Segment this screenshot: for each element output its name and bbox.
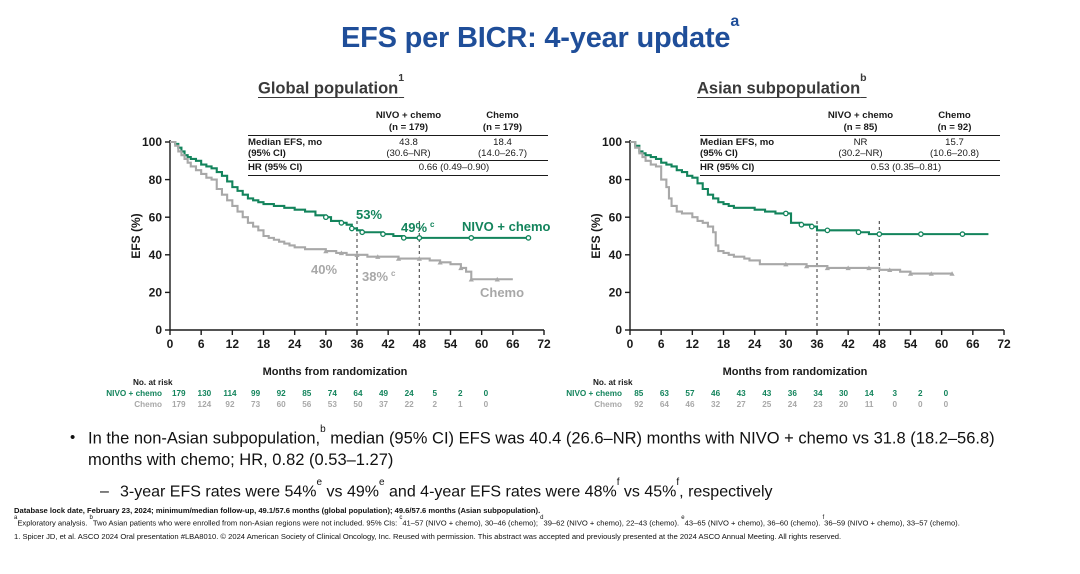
- risk-table-title: No. at risk: [133, 378, 499, 389]
- risk-cell: 60: [268, 400, 294, 411]
- sub-part2: vs 49%: [322, 484, 379, 501]
- stats-col-header-nivo: NIVO + chemo: [812, 110, 909, 122]
- y-axis-tick-label: 0: [615, 323, 622, 337]
- table-row: Chemo92644632272524232011000: [560, 400, 959, 411]
- chart-annotation: 40%: [311, 262, 337, 277]
- sub-bullet-marker-icon: –: [100, 481, 120, 502]
- risk-cell: 30: [831, 389, 857, 400]
- x-axis-tick-label: 24: [288, 337, 302, 351]
- table-row: NIVO + chemo17913011499928574644924520: [100, 389, 499, 400]
- risk-cell: 2: [908, 389, 934, 400]
- risk-cell: 53: [320, 400, 346, 411]
- x-axis-tick-label: 30: [319, 337, 333, 351]
- risk-cell: 37: [371, 400, 397, 411]
- footnote-sup-c: c: [399, 515, 402, 521]
- km-curve-nivo: [630, 142, 988, 234]
- risk-cell: 43: [754, 389, 780, 400]
- risk-cell: 64: [345, 389, 371, 400]
- risk-cell: 73: [243, 400, 269, 411]
- x-axis-tick-label: 72: [997, 337, 1011, 351]
- x-axis-tick-label: 60: [475, 337, 489, 351]
- x-axis-tick-label: 72: [537, 337, 551, 351]
- y-axis-tick-label: 60: [609, 210, 623, 224]
- chart-annotation: Chemo: [480, 285, 524, 300]
- risk-cell: 124: [192, 400, 218, 411]
- censor-mark: [417, 236, 421, 240]
- x-axis-title-asian: Months from randomization: [645, 366, 945, 378]
- risk-cell: 50: [345, 400, 371, 411]
- chart-annotation: 38%: [362, 269, 388, 284]
- risk-cell: 36: [780, 389, 806, 400]
- bullet-main-sup-b: b: [320, 424, 326, 435]
- footnote-definitions: aExploratory analysis. bTwo Asian patien…: [14, 517, 1070, 529]
- risk-table-asian: No. at risk NIVO + chemo8563574643433634…: [560, 378, 959, 411]
- body-bullets: • In the non-Asian subpopulation,b media…: [70, 428, 1030, 503]
- km-plot-global: 020406080100EFS (%)061218243036424854606…: [128, 134, 560, 366]
- risk-cell: 43: [728, 389, 754, 400]
- sub-sup-e2: e: [379, 477, 385, 488]
- risk-cell: 5: [422, 389, 448, 400]
- panel-heading-asian-text: Asian subpopulation: [697, 80, 860, 98]
- censor-mark: [825, 228, 829, 232]
- censor-mark: [784, 211, 788, 215]
- km-curve-chemo: [630, 142, 952, 274]
- bullet-marker-icon: •: [70, 428, 88, 448]
- footnote-a-text: Exploratory analysis.: [17, 518, 89, 527]
- km-chart-asian: 020406080100EFS (%)061218243036424854606…: [588, 134, 1020, 366]
- x-axis-tick-label: 48: [413, 337, 427, 351]
- risk-cell: 49: [371, 389, 397, 400]
- risk-cell: 0: [933, 400, 959, 411]
- risk-cell: 25: [754, 400, 780, 411]
- risk-table-grid: NIVO + chemo17913011499928574644924520Ch…: [100, 389, 499, 411]
- bullet-main-part1: In the non-Asian subpopulation,: [88, 430, 320, 448]
- censor-mark: [526, 236, 530, 240]
- risk-cell: 85: [294, 389, 320, 400]
- risk-cell: 0: [473, 389, 499, 400]
- km-curve-chemo: [170, 142, 513, 279]
- censor-mark: [324, 215, 328, 219]
- x-axis-tick-label: 6: [198, 337, 205, 351]
- censor-mark: [360, 230, 364, 234]
- sub-part1: 3-year EFS rates were 54%: [120, 484, 317, 501]
- censor-mark: [381, 232, 385, 236]
- x-axis-tick-label: 12: [226, 337, 240, 351]
- footnote-sup-b: b: [90, 515, 93, 521]
- chart-annotation-superscript: c: [391, 269, 396, 278]
- risk-cell: 56: [294, 400, 320, 411]
- y-axis-tick-label: 80: [149, 173, 163, 187]
- y-axis-tick-label: 40: [149, 248, 163, 262]
- chart-annotation: NIVO + chemo: [462, 219, 551, 234]
- x-axis-tick-label: 66: [966, 337, 980, 351]
- footnote-b-text: Two Asian patients who were enrolled fro…: [93, 518, 399, 527]
- y-axis-tick-label: 0: [155, 323, 162, 337]
- risk-cell: 0: [882, 400, 908, 411]
- footnotes: Database lock date, February 23, 2024; m…: [14, 506, 1070, 543]
- risk-row-label: Chemo: [100, 400, 166, 411]
- risk-row-label: NIVO + chemo: [560, 389, 626, 400]
- y-axis-tick-label: 100: [602, 135, 622, 149]
- risk-cell: 85: [626, 389, 652, 400]
- sub-sup-e1: e: [317, 477, 323, 488]
- y-axis-title: EFS (%): [589, 213, 603, 258]
- risk-cell: 14: [856, 389, 882, 400]
- risk-cell: 92: [268, 389, 294, 400]
- x-axis-tick-label: 54: [444, 337, 458, 351]
- x-axis-title-global: Months from randomization: [185, 366, 485, 378]
- censor-mark: [402, 236, 406, 240]
- km-plot-asian: 020406080100EFS (%)061218243036424854606…: [588, 134, 1020, 366]
- censor-mark: [810, 224, 814, 228]
- risk-cell: 32: [703, 400, 729, 411]
- stats-col-header-chemo: Chemo: [457, 110, 548, 122]
- risk-cell: 1: [448, 400, 474, 411]
- footnote-e-text: 43–65 (NIVO + chemo), 36–60 (chemo).: [685, 518, 823, 527]
- x-axis-tick-label: 66: [506, 337, 520, 351]
- y-axis-title: EFS (%): [129, 213, 143, 258]
- risk-cell: 22: [396, 400, 422, 411]
- sub-sup-f2: f: [676, 477, 679, 488]
- x-axis-tick-label: 36: [350, 337, 364, 351]
- censor-mark: [856, 230, 860, 234]
- risk-cell: 2: [422, 400, 448, 411]
- x-axis-tick-label: 48: [873, 337, 887, 351]
- censor-mark: [960, 232, 964, 236]
- x-axis-tick-label: 36: [810, 337, 824, 351]
- risk-cell: 2: [448, 389, 474, 400]
- table-row: NIVO + chemo Chemo: [248, 110, 548, 122]
- risk-cell: 3: [882, 389, 908, 400]
- panel-heading-asian-superscript: b: [860, 72, 866, 84]
- x-axis-tick-label: 18: [717, 337, 731, 351]
- censor-mark: [339, 221, 343, 225]
- risk-cell: 179: [166, 389, 192, 400]
- y-axis-tick-label: 40: [609, 248, 623, 262]
- censor-mark: [919, 232, 923, 236]
- bullet-main: • In the non-Asian subpopulation,b media…: [70, 428, 1030, 472]
- x-axis-tick-label: 24: [748, 337, 762, 351]
- bullet-sub: – 3-year EFS rates were 54%e vs 49%e and…: [100, 481, 1030, 503]
- chart-annotation-superscript: c: [430, 220, 435, 229]
- panel-heading-global-text: Global population: [258, 80, 398, 98]
- x-axis-tick-label: 0: [167, 337, 174, 351]
- risk-cell: 27: [728, 400, 754, 411]
- page-title-text: EFS per BICR: 4-year update: [341, 22, 730, 54]
- risk-cell: 0: [933, 389, 959, 400]
- risk-cell: 0: [473, 400, 499, 411]
- risk-cell: 24: [396, 389, 422, 400]
- risk-cell: 20: [831, 400, 857, 411]
- risk-cell: 92: [626, 400, 652, 411]
- censor-mark: [469, 236, 473, 240]
- x-axis-tick-label: 12: [686, 337, 700, 351]
- stats-col-header-chemo: Chemo: [909, 110, 1000, 122]
- risk-cell: 23: [805, 400, 831, 411]
- footnote-c-text: 41–57 (NIVO + chemo), 30–46 (chemo);: [402, 518, 540, 527]
- risk-cell: 11: [856, 400, 882, 411]
- x-axis-tick-label: 60: [935, 337, 949, 351]
- panel-heading-global: Global population1: [258, 78, 404, 99]
- page-title: EFS per BICR: 4-year updatea: [0, 22, 1080, 55]
- footnote-sup-e: e: [681, 515, 684, 521]
- sub-part3: and 4-year EFS rates were 48%: [385, 484, 617, 501]
- stats-col-header-nivo: NIVO + chemo: [360, 110, 457, 122]
- chart-annotation: 49%: [401, 220, 427, 235]
- panel-heading-asian: Asian subpopulationb: [697, 78, 867, 99]
- footnote-sup-a: a: [14, 515, 17, 521]
- risk-cell: 130: [192, 389, 218, 400]
- footnote-reference: 1. Spicer JD, et al. ASCO 2024 Oral pres…: [14, 532, 1070, 543]
- risk-cell: 63: [652, 389, 678, 400]
- x-axis-tick-label: 42: [381, 337, 395, 351]
- table-row: Chemo1791249273605653503722210: [100, 400, 499, 411]
- bullet-sub-text: 3-year EFS rates were 54%e vs 49%e and 4…: [120, 481, 1030, 503]
- risk-cell: 74: [320, 389, 346, 400]
- risk-cell: 46: [703, 389, 729, 400]
- sub-part4: vs 45%: [619, 484, 676, 501]
- y-axis-tick-label: 80: [609, 173, 623, 187]
- risk-cell: 99: [243, 389, 269, 400]
- bullet-main-text: In the non-Asian subpopulation,b median …: [88, 428, 1030, 472]
- footnote-sup-f: f: [822, 515, 824, 521]
- risk-table-title: No. at risk: [593, 378, 959, 389]
- footnote-f-text: 36–59 (NIVO + chemo), 33–57 (chemo).: [824, 518, 960, 527]
- risk-cell: 24: [780, 400, 806, 411]
- risk-cell: 64: [652, 400, 678, 411]
- footnote-sup-d: d: [540, 515, 543, 521]
- y-axis-tick-label: 100: [142, 135, 162, 149]
- censor-mark: [799, 223, 803, 227]
- slide-root: EFS per BICR: 4-year updatea Global popu…: [0, 0, 1080, 574]
- x-axis-tick-label: 30: [779, 337, 793, 351]
- x-axis-tick-label: 0: [627, 337, 634, 351]
- x-axis-tick-label: 42: [841, 337, 855, 351]
- chart-annotation: 53%: [356, 207, 382, 222]
- footnote-d-text: 39–62 (NIVO + chemo), 22–43 (chemo).: [543, 518, 681, 527]
- risk-cell: 179: [166, 400, 192, 411]
- panel-heading-global-superscript: 1: [398, 72, 404, 84]
- risk-cell: 92: [217, 400, 243, 411]
- x-axis-tick-label: 6: [658, 337, 665, 351]
- page-title-superscript: a: [730, 13, 739, 30]
- risk-row-label: NIVO + chemo: [100, 389, 166, 400]
- censor-mark: [350, 226, 354, 230]
- censor-mark: [877, 232, 881, 236]
- risk-cell: 114: [217, 389, 243, 400]
- y-axis-tick-label: 20: [609, 286, 623, 300]
- risk-cell: 34: [805, 389, 831, 400]
- y-axis-tick-label: 20: [149, 286, 163, 300]
- risk-cell: 57: [677, 389, 703, 400]
- table-row: NIVO + chemo Chemo: [700, 110, 1000, 122]
- table-row: NIVO + chemo85635746434336343014320: [560, 389, 959, 400]
- km-chart-global: 020406080100EFS (%)061218243036424854606…: [128, 134, 560, 366]
- risk-table-global: No. at risk NIVO + chemo1791301149992857…: [100, 378, 499, 411]
- sub-part5: , respectively: [679, 484, 772, 501]
- risk-row-label: Chemo: [560, 400, 626, 411]
- risk-cell: 0: [908, 400, 934, 411]
- y-axis-tick-label: 60: [149, 210, 163, 224]
- risk-cell: 46: [677, 400, 703, 411]
- x-axis-tick-label: 18: [257, 337, 271, 351]
- risk-table-grid: NIVO + chemo85635746434336343014320Chemo…: [560, 389, 959, 411]
- x-axis-tick-label: 54: [904, 337, 918, 351]
